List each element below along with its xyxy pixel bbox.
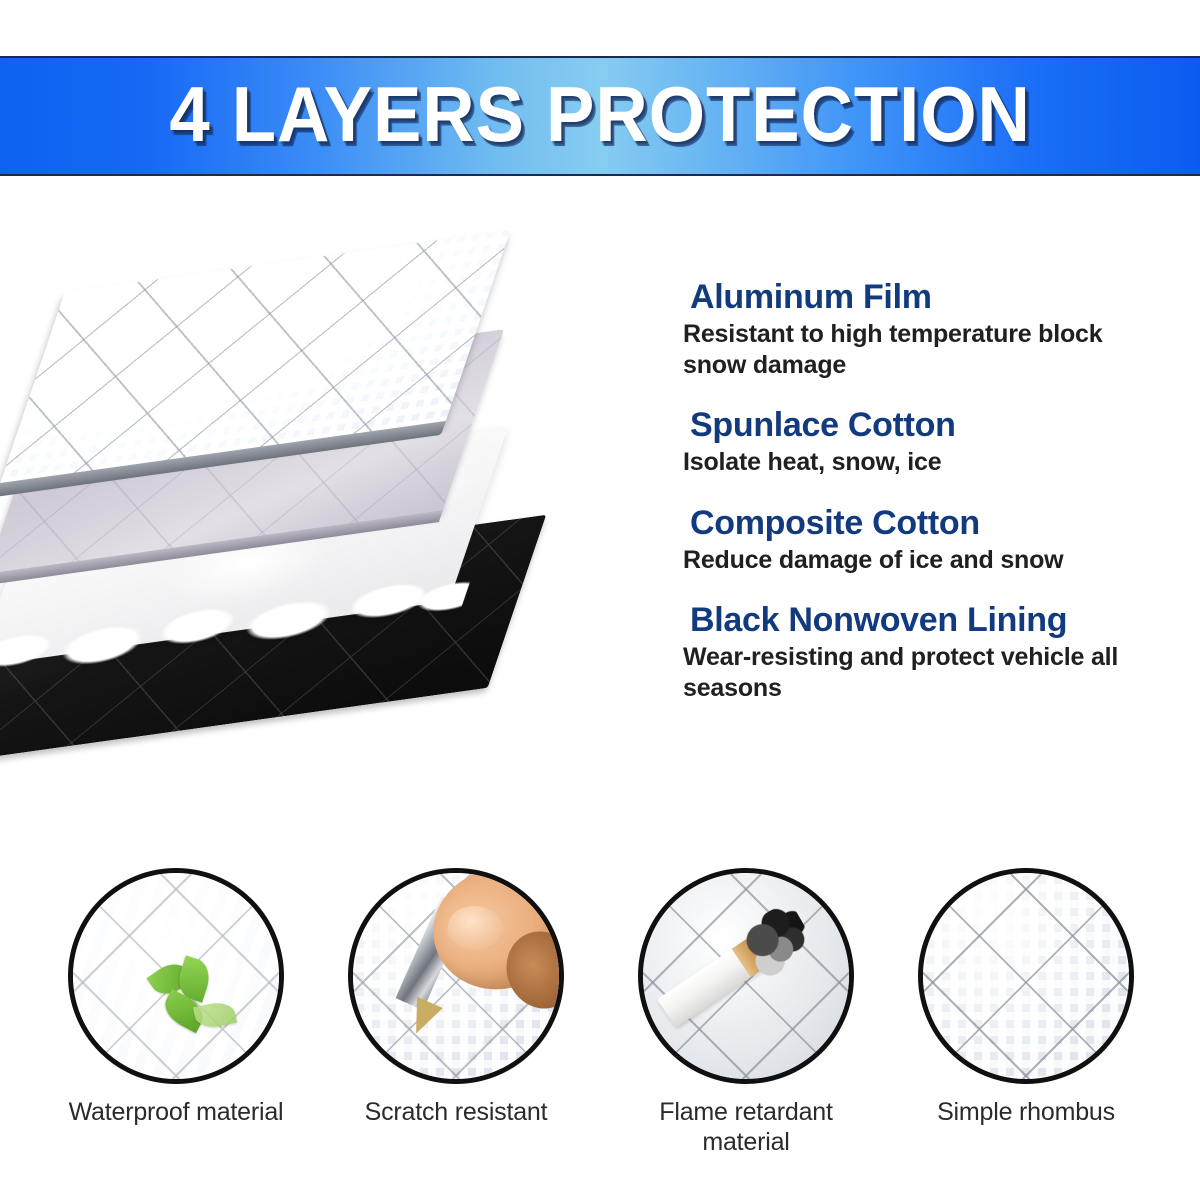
- benefit-item-scratch: Scratch resistant: [348, 868, 564, 1127]
- feature-description: Resistant to high temperature block snow…: [683, 319, 1163, 380]
- product-feature-page: 4 LAYERS PROTECTION: [0, 0, 1200, 1200]
- feature-title: Black Nonwoven Lining: [690, 601, 1163, 639]
- benefit-item-waterproof: Waterproof material: [68, 868, 284, 1127]
- scratch-resistant-photo: [348, 868, 564, 1084]
- feature-item-black-nonwoven-lining: Black Nonwoven Lining Wear-resisting and…: [683, 601, 1163, 703]
- benefit-caption: Simple rhombus: [918, 1097, 1134, 1127]
- fingernail-icon: [445, 903, 505, 953]
- benefit-item-flame: Flame retardant material: [638, 868, 854, 1157]
- benefit-icon-row: Waterproof material Scratch resistant: [0, 868, 1200, 1098]
- benefit-caption: Waterproof material: [68, 1097, 284, 1127]
- flame-retardant-photo: [638, 868, 854, 1084]
- waterproof-photo: [68, 868, 284, 1084]
- feature-item-spunlace-cotton: Spunlace Cotton Isolate heat, snow, ice: [683, 406, 1163, 478]
- benefit-caption: Scratch resistant: [348, 1097, 564, 1127]
- feature-description: Reduce damage of ice and snow: [683, 545, 1163, 576]
- feature-description: Wear-resisting and protect vehicle all s…: [683, 642, 1163, 703]
- feature-title: Aluminum Film: [690, 278, 1163, 316]
- feature-list: Aluminum Film Resistant to high temperat…: [683, 278, 1163, 703]
- feature-item-aluminum-film: Aluminum Film Resistant to high temperat…: [683, 278, 1163, 380]
- layer-stack-illustration: [20, 250, 650, 790]
- feature-title: Spunlace Cotton: [690, 406, 1163, 444]
- rhombus-pattern-photo: [918, 868, 1134, 1084]
- page-title: 4 LAYERS PROTECTION: [169, 75, 1030, 157]
- feature-description: Isolate heat, snow, ice: [683, 447, 1163, 478]
- banner: 4 LAYERS PROTECTION: [0, 56, 1200, 176]
- feature-title: Composite Cotton: [690, 504, 1163, 542]
- feature-item-composite-cotton: Composite Cotton Reduce damage of ice an…: [683, 504, 1163, 576]
- benefit-caption: Flame retardant material: [638, 1097, 854, 1157]
- benefit-item-rhombus: Simple rhombus: [918, 868, 1134, 1127]
